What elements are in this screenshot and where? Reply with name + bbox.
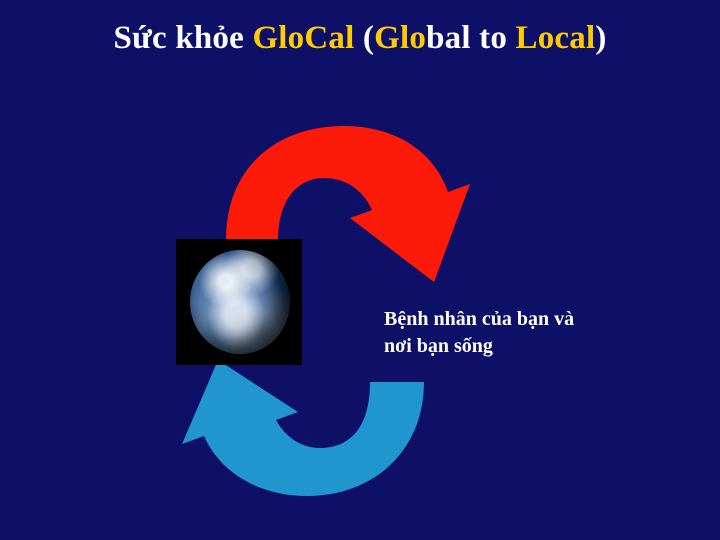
title-segment-4: Glo [374, 20, 426, 56]
earth-photo [190, 250, 290, 354]
title-segment-2: GloCal [252, 20, 354, 56]
slide-canvas: Sức khỏe GloCal (Global to Local) Bệnh n… [0, 0, 720, 540]
title-segment-5: bal to [426, 20, 515, 56]
blue-curved-arrow [180, 360, 430, 500]
title-segment-8: ) [595, 20, 606, 56]
title-segment-3: ( [354, 20, 374, 56]
title-segment-7: cal [554, 20, 595, 56]
earth-image-frame [176, 239, 302, 365]
title-segment-6: Lo [515, 20, 554, 56]
caption-text: Bệnh nhân của bạn và nơi bạn sống [384, 306, 674, 360]
earth-shading [190, 250, 290, 354]
page-title: Sức khỏe GloCal (Global to Local) [0, 20, 720, 57]
caption-line-1: Bệnh nhân của bạn và [384, 306, 674, 333]
title-segment-1: Sức khỏe [113, 20, 252, 56]
caption-line-2: nơi bạn sống [384, 333, 674, 360]
